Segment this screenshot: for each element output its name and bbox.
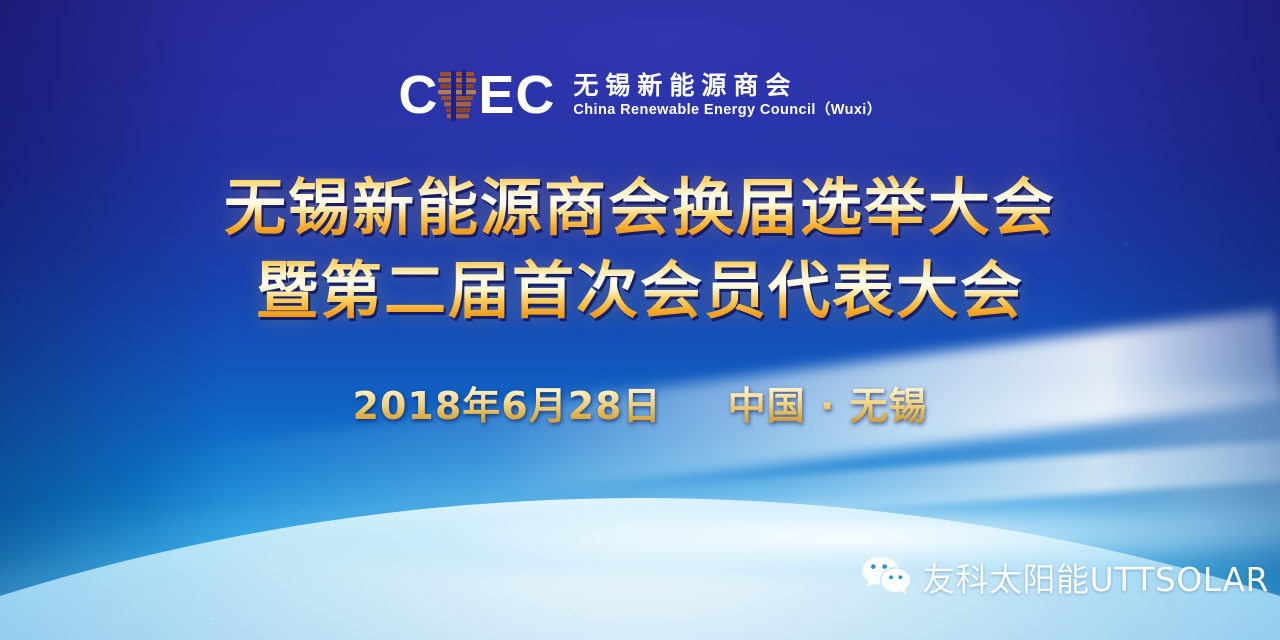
- event-dateline: 2018年6月28日 中国 · 无锡: [0, 375, 1280, 430]
- crec-letter-c1: C: [398, 68, 438, 122]
- title-line-2: 暨第二届首次会员代表大会: [0, 249, 1280, 332]
- conference-banner: C: [0, 0, 1280, 640]
- watermark-text: 友科太阳能UTTSOLAR: [922, 563, 1269, 596]
- wechat-watermark: 友科太阳能UTTSOLAR: [861, 556, 1269, 603]
- crec-letter-c2: C: [515, 68, 555, 122]
- crec-letter-e: E: [478, 68, 515, 122]
- crec-r-monogram-icon: [436, 68, 480, 122]
- crec-acronym: C: [398, 68, 555, 122]
- logo-org-names: 无锡新能源商会 China Renewable Energy Council（W…: [573, 71, 881, 118]
- banner-title: 无锡新能源商会换届选举大会 暨第二届首次会员代表大会: [0, 166, 1280, 332]
- crec-logo: C: [0, 68, 1280, 122]
- wechat-icon: [861, 556, 911, 603]
- event-location: 中国 · 无锡: [728, 375, 928, 430]
- title-line-1: 无锡新能源商会换届选举大会: [0, 166, 1280, 249]
- logo-chinese-name: 无锡新能源商会: [573, 73, 881, 99]
- event-date: 2018年6月28日: [353, 375, 662, 430]
- logo-english-name: China Renewable Energy Council（Wuxi）: [573, 103, 881, 119]
